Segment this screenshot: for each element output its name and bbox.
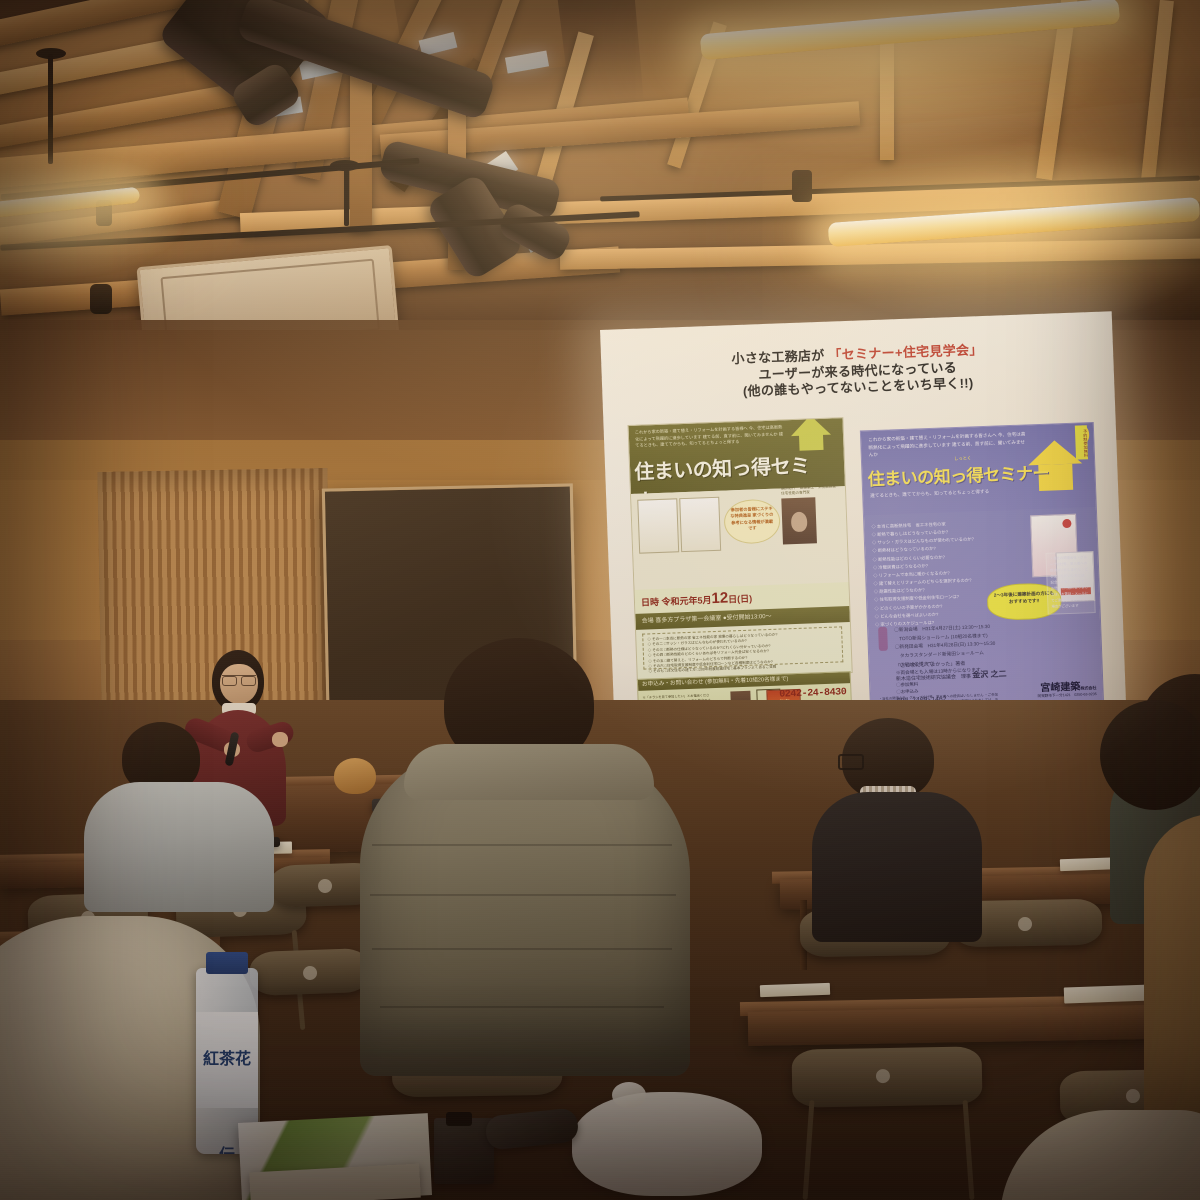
jacket-quilt-seam [372,844,672,846]
handout-paper [760,983,830,997]
glasses-icon [222,675,256,684]
attendee-right [812,718,992,918]
attendee-outer-jacket [1144,814,1200,1134]
jacket-quilt-seam [370,894,676,896]
attendee-torso [84,782,274,912]
plastic-bag-knot [612,1082,646,1108]
camera-device[interactable] [434,1118,494,1184]
chair [249,948,370,996]
book-thumbnail [637,498,679,553]
house-icon [790,417,831,436]
slide-headline: 小さな工務店が 「セミナー+住宅見学会」 ユーザーが来る時代になっている (他の… [601,337,1114,406]
speaker-photo [781,497,817,544]
book-thumbnail [679,497,721,552]
flyer-right: これから家の新築・建て替え・リフォームを計画する皆さんへ 今、住宅は高断熱化によ… [860,422,1104,720]
flyer-left-speaker-caption: 講師紹介 一級建築士・工務店経営 住宅性能の専門家 [781,484,839,497]
bottle-label: 紅茶花伝 [196,1012,258,1108]
camera-lens [446,1112,472,1126]
jacket-quilt-seam [380,1006,664,1008]
track-spotlight [90,284,112,314]
truss-post [880,40,894,160]
reservation-stamp: 予約制参加無料 [1075,425,1088,459]
flyer-right-sidebar-note: ・当社の関連会社・グループ会社等、第三者への提供はいたしません ・ご参加いただい… [1045,551,1095,615]
attendee-left [86,722,286,902]
track-spotlight [792,170,812,202]
jacket-collar [404,744,654,800]
person-pictogram-icon [878,627,888,651]
plastic-bag[interactable] [572,1092,762,1196]
attendee-foreground-right [1000,1110,1200,1200]
foreground-head-silhouette [1100,700,1200,810]
jacket-quilt-seam [372,948,672,950]
chair [792,1046,983,1107]
date-label: 日時 [641,597,659,608]
attendee-glasses-icon [838,754,864,770]
ceiling-structure [0,0,1200,352]
attendee-center [360,638,690,1068]
flyer-left-bubble-text: 参加者の皆様にステキな特典進呈 家づくりの参考になる情報が満載です [729,506,776,533]
seminar-room-photo: 小さな工務店が 「セミナー+住宅見学会」 ユーザーが来る時代になっている (他の… [0,0,1200,1200]
ceiling-hanger-rod [48,54,53,164]
date-suffix: 日(日) [728,594,752,605]
ceiling-hanger-rod [344,166,349,226]
date-value: 令和元年5月 [661,595,711,607]
house-icon-body [799,434,824,451]
slide-headline-prefix: 小さな工務店が [731,348,825,366]
date-day: 12 [711,589,728,607]
bottle-cap[interactable] [206,952,248,974]
foreground-shoulder [1000,1110,1200,1200]
attendee-torso [812,792,982,942]
